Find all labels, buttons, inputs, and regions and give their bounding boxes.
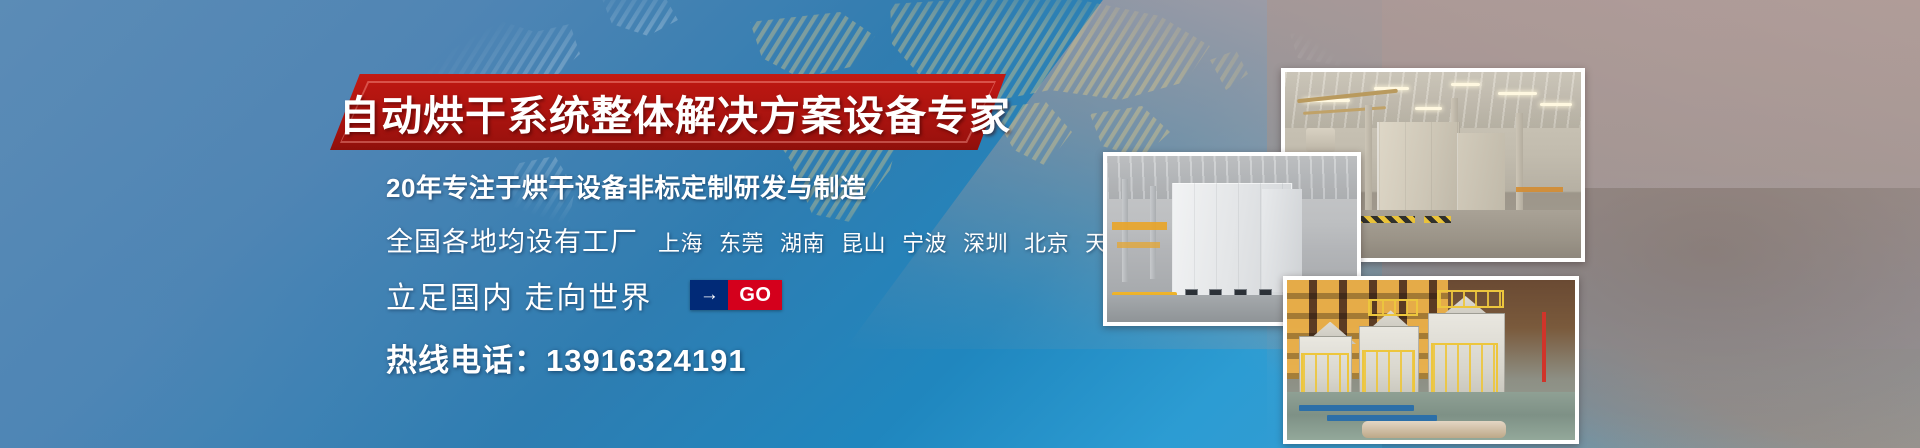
slogan-text: 立足国内 走向世界 <box>386 273 652 317</box>
hotline-text: 热线电话：13916324191 <box>386 335 1346 380</box>
headline-ribbon: 自动烘干系统整体解决方案设备专家 <box>330 74 1006 150</box>
photo-line <box>1283 276 1579 444</box>
factories-heading: 全国各地均设有工厂 <box>386 220 638 259</box>
promo-banner: 自动烘干系统整体解决方案设备专家 20年专注于烘干设备非标定制研发与制造 全国各… <box>0 0 1920 448</box>
arrow-right-icon: → <box>690 280 728 310</box>
city-item: 上海 <box>658 226 703 258</box>
city-item: 宁波 <box>902 226 947 258</box>
photo-line-image <box>1287 280 1575 440</box>
city-item: 昆山 <box>841 226 886 258</box>
go-button-label: GO <box>728 280 782 310</box>
city-item: 北京 <box>1024 226 1069 258</box>
city-item: 湖南 <box>780 226 825 258</box>
go-button[interactable]: → GO <box>690 280 782 310</box>
city-item: 深圳 <box>963 226 1008 258</box>
city-item: 东莞 <box>719 226 764 258</box>
headline-title: 自动烘干系统整体解决方案设备专家 <box>330 74 1006 150</box>
factory-city-list: 上海 东莞 湖南 昆山 宁波 深圳 北京 天津 <box>658 226 1130 258</box>
